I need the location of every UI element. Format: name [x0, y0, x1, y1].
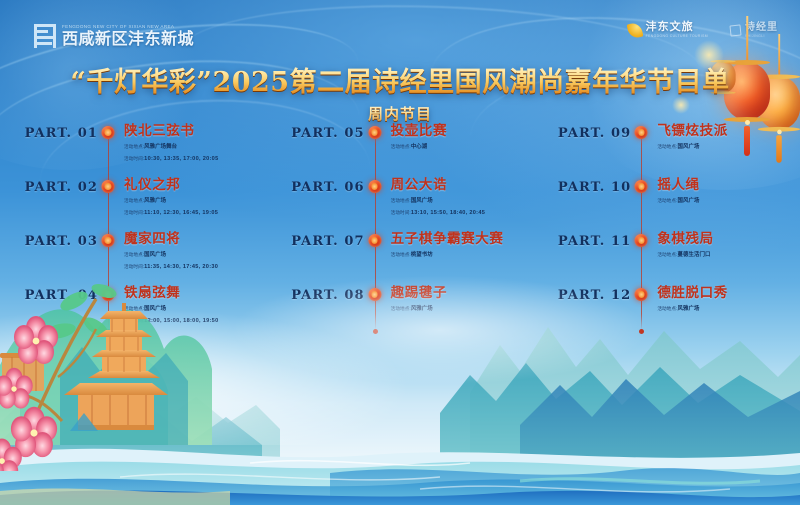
part-number: PART. 03	[0, 232, 98, 249]
leaf-logo-icon	[626, 21, 643, 39]
program-row[interactable]: PART. 11象棋残局活动地点:蔓德生活门口	[533, 230, 800, 284]
program-column: PART. 05投壶比赛活动地点:中心湖PART. 06周公大诰活动地点:国风广…	[267, 122, 534, 338]
program-name: 魔家四将	[124, 232, 218, 247]
program-info: 象棋残局活动地点:蔓德生活门口	[657, 232, 713, 259]
program-name: 飞镖炫技派	[657, 124, 728, 139]
program-venue: 活动地点:国风广场	[391, 197, 486, 205]
part-number: PART. 04	[0, 286, 98, 303]
program-row[interactable]: PART. 04铁扇弦舞活动地点:国风广场活动时间:12:00, 15:00, …	[0, 284, 267, 338]
poster-canvas: FENGDONG NEW CITY OF XIXIAN NEW AREA 西咸新…	[0, 0, 800, 505]
part-number: PART. 02	[0, 178, 98, 195]
program-name: 象棋残局	[657, 232, 713, 247]
timeline-node-icon	[635, 234, 648, 247]
program-venue: 活动地点:国风广场	[657, 197, 699, 205]
partner-logo-shijingli: 诗经里 SHIJINGLI	[730, 23, 778, 38]
program-name: 陕北三弦书	[124, 124, 219, 139]
timeline-node-icon	[102, 126, 115, 139]
timeline-node-icon	[635, 288, 648, 301]
page-title: “千灯华彩”2025第二届诗经里国风潮尚嘉年华节目单	[0, 60, 800, 99]
program-row[interactable]: PART. 05投壶比赛活动地点:中心湖	[267, 122, 534, 176]
program-row[interactable]: PART. 10摇人绳活动地点:国风广场	[533, 176, 800, 230]
program-name: 周公大诰	[391, 178, 486, 193]
program-info: 周公大诰活动地点:国风广场活动时间:13:10, 15:50, 18:40, 2…	[391, 178, 486, 217]
timeline-node-icon	[102, 288, 115, 301]
part-number: PART. 08	[267, 286, 365, 303]
program-info: 礼仪之邦活动地点:风雅广场活动时间:11:10, 12:30, 16:45, 1…	[124, 178, 218, 217]
partner-logos: 沣东文旅 FENGDONG CULTURE TOURISM 诗经里 SHIJIN…	[628, 22, 778, 38]
program-column: PART. 01陕北三弦书活动地点:风雅广场舞台活动时间:10:30, 13:3…	[0, 122, 267, 338]
program-venue: 活动地点:国风广场	[124, 305, 219, 313]
program-venue: 活动地点:国风广场	[657, 143, 728, 151]
partner-name: 诗经里	[745, 23, 778, 33]
program-info: 趣踢毽子活动地点:风雅广场	[391, 286, 447, 313]
program-venue: 活动地点:风雅广场舞台	[124, 143, 219, 151]
program-venue: 活动地点:国风广场	[124, 251, 218, 259]
program-row[interactable]: PART. 09飞镖炫技派活动地点:国风广场	[533, 122, 800, 176]
program-row[interactable]: PART. 03魔家四将活动地点:国风广场活动时间:11:35, 14:30, …	[0, 230, 267, 284]
program-row[interactable]: PART. 02礼仪之邦活动地点:风雅广场活动时间:11:10, 12:30, …	[0, 176, 267, 230]
partner-name: 沣东文旅	[646, 22, 708, 33]
program-name: 德胜脱口秀	[657, 286, 728, 301]
program-info: 投壶比赛活动地点:中心湖	[391, 124, 447, 151]
program-info: 铁扇弦舞活动地点:国风广场活动时间:12:00, 15:00, 18:00, 1…	[124, 286, 219, 325]
program-row[interactable]: PART. 08趣踢毽子活动地点:风雅广场	[267, 284, 534, 338]
program-name: 投壶比赛	[391, 124, 447, 139]
program-venue: 活动地点:风雅广场	[124, 197, 218, 205]
program-info: 德胜脱口秀活动地点:风雅广场	[657, 286, 728, 313]
program-venue: 活动地点:中心湖	[391, 143, 447, 151]
brand-logo: FENGDONG NEW CITY OF XIXIAN NEW AREA 西咸新…	[34, 24, 194, 48]
program-info: 五子棋争霸赛大赛活动地点:桃望书坊	[391, 232, 504, 259]
program-row[interactable]: PART. 12德胜脱口秀活动地点:风雅广场	[533, 284, 800, 338]
part-number: PART. 11	[533, 232, 631, 249]
program-name: 铁扇弦舞	[124, 286, 219, 301]
partner-logo-fengdong-wenlv: 沣东文旅 FENGDONG CULTURE TOURISM	[628, 22, 708, 38]
program-name: 五子棋争霸赛大赛	[391, 232, 504, 247]
program-row[interactable]: PART. 06周公大诰活动地点:国风广场活动时间:13:10, 15:50, …	[267, 176, 534, 230]
program-info: 陕北三弦书活动地点:风雅广场舞台活动时间:10:30, 13:35, 17:00…	[124, 124, 219, 163]
partner-subtitle: SHIJINGLI	[745, 35, 778, 38]
program-time: 活动时间:11:35, 14:30, 17:45, 20:30	[124, 263, 218, 271]
program-name: 趣踢毽子	[391, 286, 447, 301]
program-venue: 活动地点:风雅广场	[657, 305, 728, 313]
seal-logo-icon	[729, 24, 741, 36]
program-info: 魔家四将活动地点:国风广场活动时间:11:35, 14:30, 17:45, 2…	[124, 232, 218, 271]
program-time: 活动时间:11:10, 12:30, 16:45, 19:05	[124, 209, 218, 217]
program-venue: 活动地点:桃望书坊	[391, 251, 504, 259]
part-number: PART. 10	[533, 178, 631, 195]
timeline-node-icon	[368, 234, 381, 247]
timeline-node-icon	[635, 180, 648, 193]
timeline-node-icon	[368, 180, 381, 193]
timeline-node-icon	[102, 180, 115, 193]
part-number: PART. 09	[533, 124, 631, 141]
program-info: 摇人绳活动地点:国风广场	[657, 178, 699, 205]
program-info: 飞镖炫技派活动地点:国风广场	[657, 124, 728, 151]
lantern-cord	[746, 16, 748, 62]
timeline-node-icon	[368, 288, 381, 301]
timeline-node-icon	[635, 126, 648, 139]
program-name: 礼仪之邦	[124, 178, 218, 193]
part-number: PART. 07	[267, 232, 365, 249]
program-row[interactable]: PART. 01陕北三弦书活动地点:风雅广场舞台活动时间:10:30, 13:3…	[0, 122, 267, 176]
program-name: 摇人绳	[657, 178, 699, 193]
program-grid: PART. 01陕北三弦书活动地点:风雅广场舞台活动时间:10:30, 13:3…	[0, 122, 800, 337]
program-venue: 活动地点:蔓德生活门口	[657, 251, 713, 259]
part-number: PART. 06	[267, 178, 365, 195]
program-row[interactable]: PART. 07五子棋争霸赛大赛活动地点:桃望书坊	[267, 230, 534, 284]
page-subtitle: 周内节目	[0, 103, 800, 124]
brand-english-name: FENGDONG NEW CITY OF XIXIAN NEW AREA	[62, 25, 194, 30]
part-number: PART. 12	[533, 286, 631, 303]
title-block: “千灯华彩”2025第二届诗经里国风潮尚嘉年华节目单 周内节目	[0, 60, 800, 124]
timeline-node-icon	[368, 126, 381, 139]
program-time: 活动时间:10:30, 13:35, 17:00, 20:05	[124, 155, 219, 163]
brand-chinese-name: 西咸新区沣东新城	[62, 32, 194, 48]
part-number: PART. 01	[0, 124, 98, 141]
part-number: PART. 05	[267, 124, 365, 141]
partner-subtitle: FENGDONG CULTURE TOURISM	[646, 35, 708, 38]
program-time: 活动时间:12:00, 15:00, 18:00, 19:50	[124, 317, 219, 325]
timeline-node-icon	[102, 234, 115, 247]
fengdong-seal-icon	[34, 24, 56, 48]
program-time: 活动时间:13:10, 15:50, 18:40, 20:45	[391, 209, 486, 217]
program-column: PART. 09飞镖炫技派活动地点:国风广场PART. 10摇人绳活动地点:国风…	[533, 122, 800, 338]
program-venue: 活动地点:风雅广场	[391, 305, 447, 313]
